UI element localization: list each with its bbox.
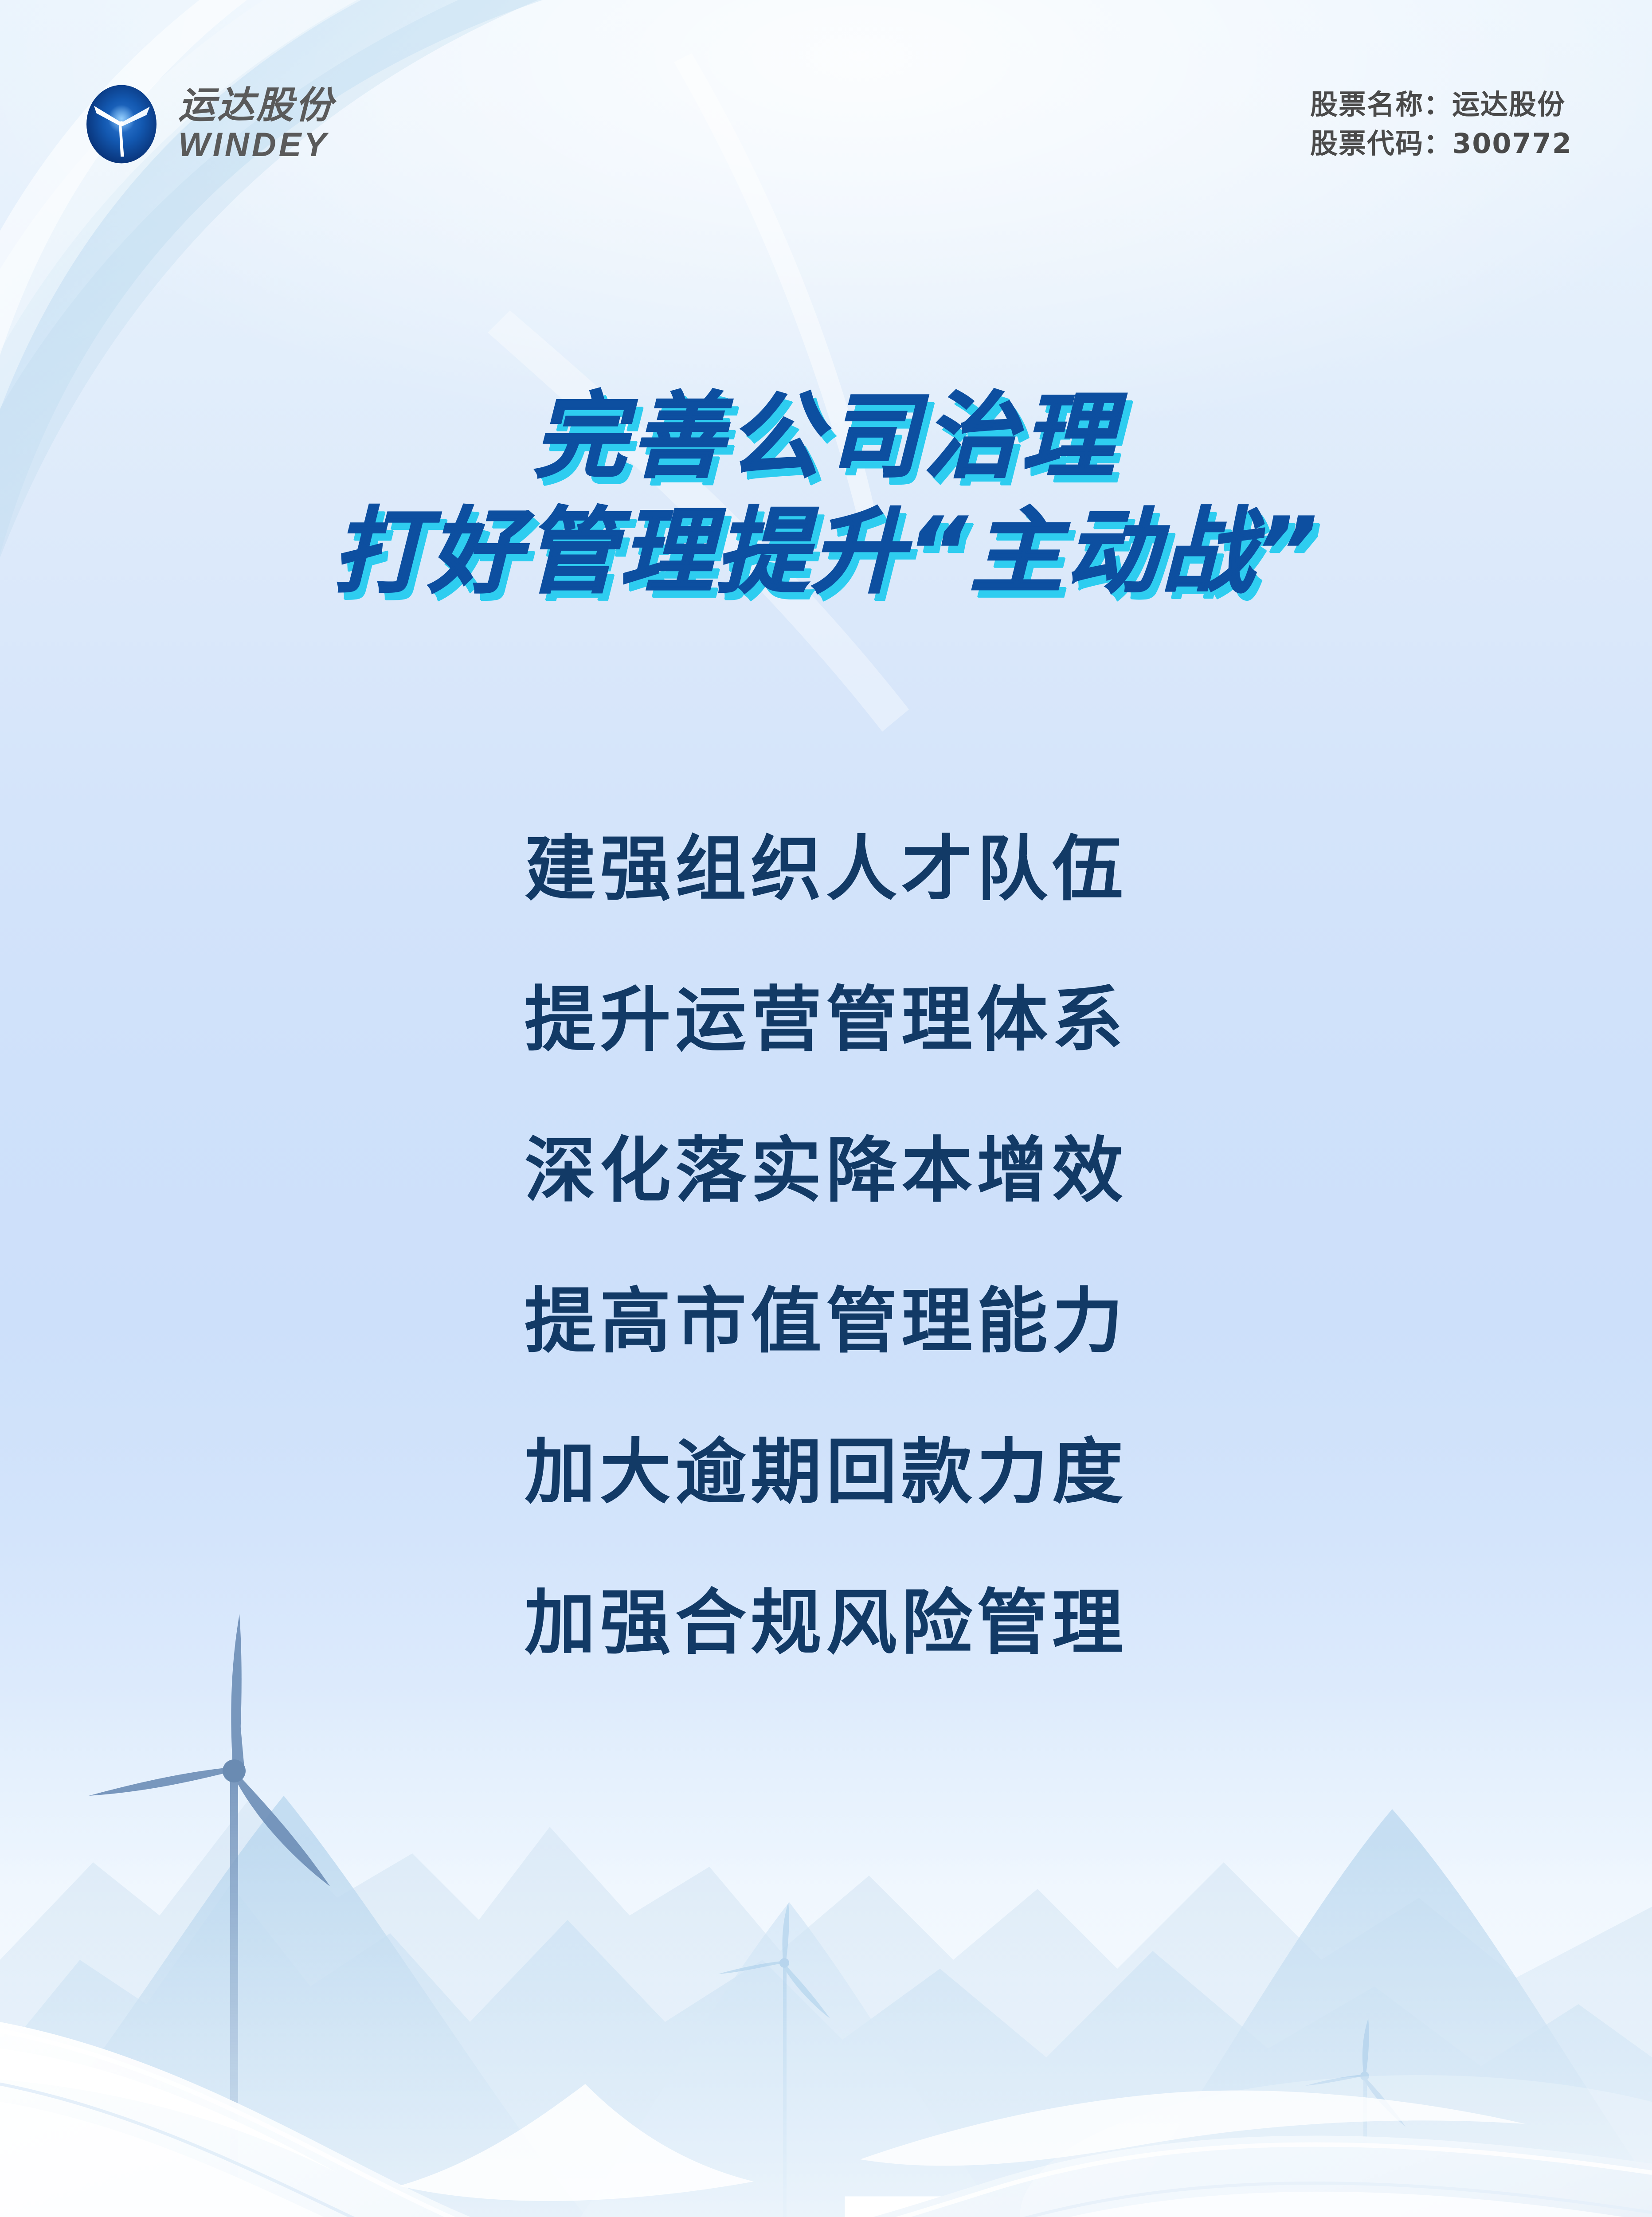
list-item: 提升运营管理体系 [525, 944, 1127, 1095]
brand-name-en: WINDEY [178, 128, 334, 162]
poster-title: 完善公司治理 打好管理提升“主动战” [0, 379, 1652, 610]
title-line-1: 完善公司治理 [0, 379, 1652, 494]
turbine-center-shape [718, 1902, 830, 2217]
brand-name-cn: 运达股份 [178, 86, 334, 124]
turbine-left-shape [89, 1614, 330, 2217]
list-item: 加强合规风险管理 [525, 1547, 1127, 1698]
poster-header: 运达股份 WINDEY 股票名称：运达股份 股票代码：300772 [0, 67, 1652, 182]
brand-wordmark: 运达股份 WINDEY [178, 86, 334, 162]
windey-turbine-logo-icon [80, 82, 163, 166]
stock-name-line: 股票名称：运达股份 [1310, 85, 1572, 124]
stock-info: 股票名称：运达股份 股票代码：300772 [1310, 85, 1572, 163]
key-points-list: 建强组织人才队伍 提升运营管理体系 深化落实降本增效 提高市值管理能力 加大逾期… [0, 794, 1652, 1698]
list-item: 加大逾期回款力度 [525, 1397, 1127, 1547]
brand-logo: 运达股份 WINDEY [80, 82, 334, 166]
list-item: 提高市值管理能力 [525, 1246, 1127, 1397]
list-item: 深化落实降本增效 [525, 1095, 1127, 1246]
poster-root: 运达股份 WINDEY 股票名称：运达股份 股票代码：300772 完善公司治理… [0, 0, 1652, 2217]
title-line-2: 打好管理提升“主动战” [0, 494, 1652, 610]
list-item: 建强组织人才队伍 [525, 794, 1127, 944]
turbine-right-shape [1305, 2018, 1405, 2217]
stock-code-line: 股票代码：300772 [1310, 124, 1572, 163]
